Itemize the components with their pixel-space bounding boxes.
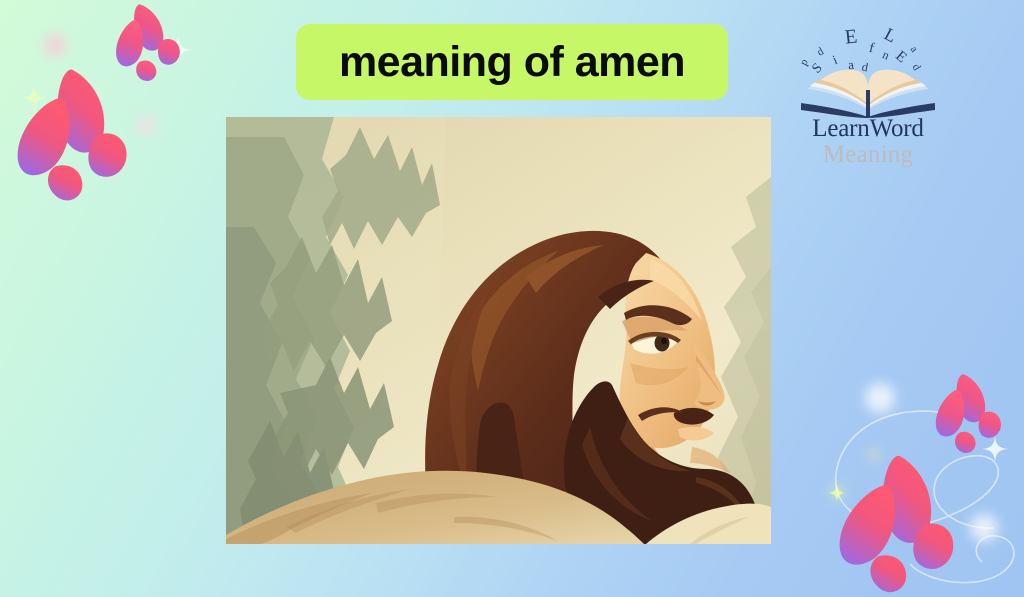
butterfly-bottom-right-large [817,443,974,597]
glow-dot-5 [831,486,843,498]
sparkle-icon [828,484,846,502]
butterfly-left-large [0,56,147,215]
title-banner: meaning of amen [296,24,728,100]
floating-letter-4: E [844,26,858,47]
glow-dot-1 [137,116,155,134]
glow-dot-6 [869,450,879,460]
glow-dot-2 [138,37,150,49]
floating-letter-8: f [867,42,875,57]
floating-letter-9: L [881,24,899,45]
logo-wordmark: LearnWord Meaning [793,116,943,169]
open-book-icon [797,56,939,118]
glow-dot-4 [970,514,998,542]
butterfly-top-left [93,0,198,97]
brand-logo[interactable]: pdSiEacdfLnEad LearnWord Meaning [793,18,943,168]
butterfly-trail-swirl [806,368,1024,597]
logo-line-meaning: Meaning [793,142,943,168]
sparkle-icon [982,436,1008,462]
glow-dot-0 [44,34,66,56]
sparkle-icon [22,86,46,110]
sparkle-icon [164,36,192,64]
glow-dot-3 [865,383,895,413]
page-title: meaning of amen [339,41,685,84]
floating-letter-12: a [908,44,920,55]
poster-canvas: meaning of amen pdSiEacdfLnEad L [0,0,1024,597]
logo-line-learnword: LearnWord [793,116,943,142]
jesus-looking-upward-illustration [226,117,771,544]
butterfly-bottom-right-small [915,361,1018,467]
